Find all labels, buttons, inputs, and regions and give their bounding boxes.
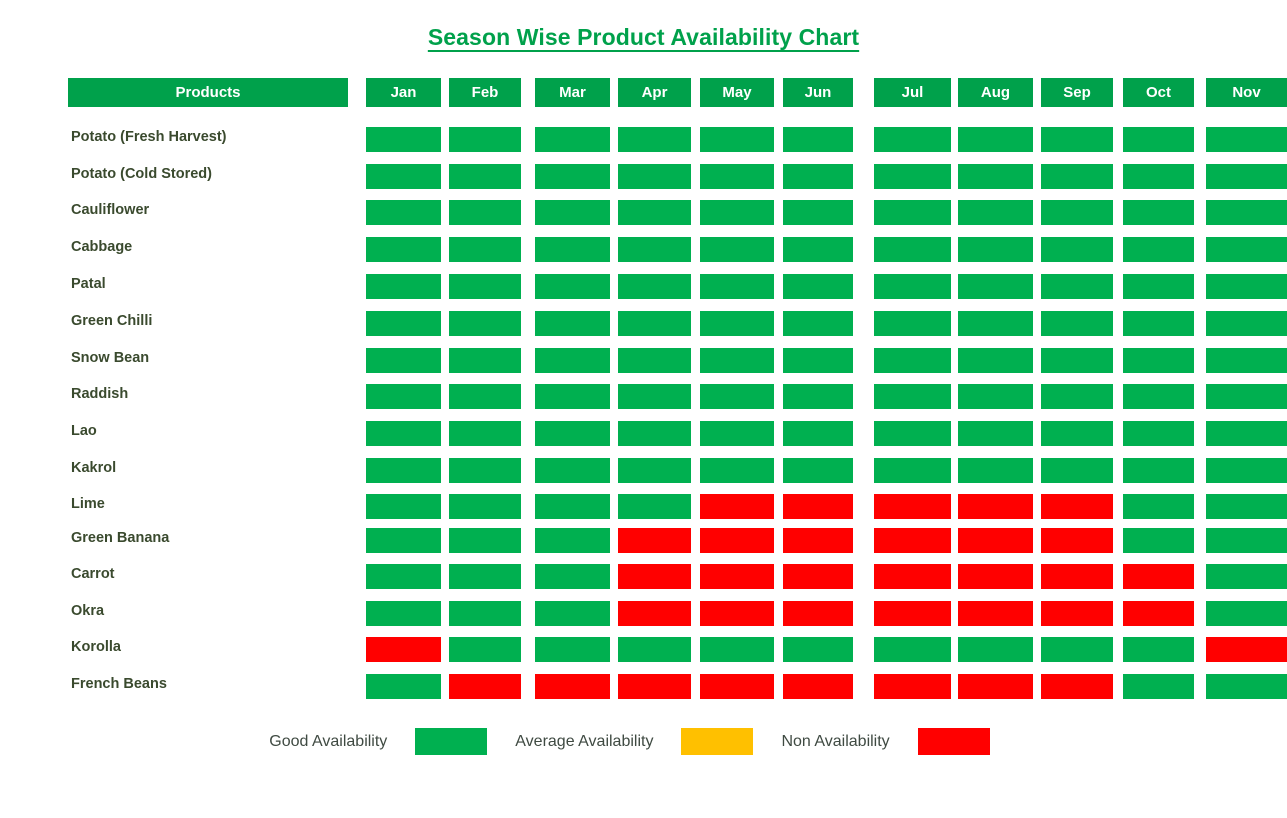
availability-cell[interactable] xyxy=(535,127,610,152)
availability-cell[interactable] xyxy=(700,274,774,299)
availability-cell[interactable] xyxy=(874,311,951,336)
legend-swatch-none xyxy=(918,728,990,755)
availability-cell[interactable] xyxy=(700,237,774,262)
availability-cell[interactable] xyxy=(783,384,853,409)
availability-cell[interactable] xyxy=(1206,637,1287,662)
availability-cell[interactable] xyxy=(618,384,691,409)
availability-cell[interactable] xyxy=(700,601,774,626)
availability-cell[interactable] xyxy=(618,237,691,262)
availability-cell[interactable] xyxy=(1206,564,1287,589)
availability-cell[interactable] xyxy=(700,564,774,589)
availability-cell[interactable] xyxy=(1041,458,1113,483)
availability-cell[interactable] xyxy=(1206,164,1287,189)
header-month-may[interactable]: May xyxy=(700,78,774,107)
availability-cell[interactable] xyxy=(874,164,951,189)
legend-item: Average Availability xyxy=(515,728,781,755)
availability-cell[interactable] xyxy=(618,127,691,152)
row-label: Cabbage xyxy=(71,236,361,258)
availability-cell[interactable] xyxy=(535,601,610,626)
availability-cell[interactable] xyxy=(618,200,691,225)
availability-cell[interactable] xyxy=(1123,494,1194,519)
availability-cell[interactable] xyxy=(1041,384,1113,409)
availability-cell[interactable] xyxy=(366,348,441,373)
availability-cell[interactable] xyxy=(783,528,853,553)
availability-cell[interactable] xyxy=(700,164,774,189)
availability-cell[interactable] xyxy=(618,637,691,662)
availability-cell[interactable] xyxy=(958,274,1033,299)
availability-cell[interactable] xyxy=(1123,528,1194,553)
availability-cell[interactable] xyxy=(1041,674,1113,699)
availability-cell[interactable] xyxy=(958,164,1033,189)
availability-cell[interactable] xyxy=(366,564,441,589)
availability-cell[interactable] xyxy=(958,127,1033,152)
availability-cell[interactable] xyxy=(366,384,441,409)
availability-cell[interactable] xyxy=(700,528,774,553)
availability-cell[interactable] xyxy=(366,127,441,152)
availability-cell[interactable] xyxy=(1206,237,1287,262)
availability-cell[interactable] xyxy=(1041,564,1113,589)
availability-cell[interactable] xyxy=(1206,127,1287,152)
header-month-nov[interactable]: Nov xyxy=(1206,78,1287,107)
availability-cell[interactable] xyxy=(783,637,853,662)
header-month-mar[interactable]: Mar xyxy=(535,78,610,107)
availability-cell[interactable] xyxy=(366,311,441,336)
availability-cell[interactable] xyxy=(1123,637,1194,662)
availability-cell[interactable] xyxy=(1206,200,1287,225)
availability-cell[interactable] xyxy=(449,164,521,189)
availability-cell[interactable] xyxy=(449,200,521,225)
availability-cell[interactable] xyxy=(874,200,951,225)
availability-cell[interactable] xyxy=(783,348,853,373)
header-month-jul[interactable]: Jul xyxy=(874,78,951,107)
availability-cell[interactable] xyxy=(1123,237,1194,262)
availability-cell[interactable] xyxy=(783,274,853,299)
availability-cell[interactable] xyxy=(366,274,441,299)
availability-cell[interactable] xyxy=(1041,348,1113,373)
availability-cell[interactable] xyxy=(783,674,853,699)
availability-cell[interactable] xyxy=(449,127,521,152)
availability-cell[interactable] xyxy=(366,494,441,519)
availability-cell[interactable] xyxy=(783,601,853,626)
availability-cell[interactable] xyxy=(1123,564,1194,589)
availability-cell[interactable] xyxy=(1123,164,1194,189)
row-label: Green Chilli xyxy=(71,310,361,332)
availability-cell[interactable] xyxy=(700,127,774,152)
availability-cell[interactable] xyxy=(958,674,1033,699)
availability-cell[interactable] xyxy=(366,637,441,662)
availability-cell[interactable] xyxy=(1041,637,1113,662)
header-month-apr[interactable]: Apr xyxy=(618,78,691,107)
availability-cell[interactable] xyxy=(958,237,1033,262)
availability-cell[interactable] xyxy=(535,421,610,446)
availability-cell[interactable] xyxy=(700,200,774,225)
availability-cell[interactable] xyxy=(1041,311,1113,336)
availability-cell[interactable] xyxy=(1041,274,1113,299)
availability-cell[interactable] xyxy=(449,601,521,626)
availability-cell[interactable] xyxy=(449,421,521,446)
availability-cell[interactable] xyxy=(874,237,951,262)
availability-cell[interactable] xyxy=(1123,674,1194,699)
availability-cell[interactable] xyxy=(874,127,951,152)
availability-cell[interactable] xyxy=(1206,311,1287,336)
availability-cell[interactable] xyxy=(874,274,951,299)
row-label: Patal xyxy=(71,273,361,295)
legend-label: Good Availability xyxy=(269,733,387,751)
availability-cell[interactable] xyxy=(783,458,853,483)
availability-cell[interactable] xyxy=(1206,458,1287,483)
availability-cell[interactable] xyxy=(1041,164,1113,189)
availability-cell[interactable] xyxy=(535,674,610,699)
availability-cell[interactable] xyxy=(958,311,1033,336)
availability-cell[interactable] xyxy=(958,384,1033,409)
availability-cell[interactable] xyxy=(449,494,521,519)
availability-cell[interactable] xyxy=(449,528,521,553)
availability-cell[interactable] xyxy=(1123,384,1194,409)
availability-cell[interactable] xyxy=(1123,200,1194,225)
legend-swatch-good xyxy=(415,728,487,755)
availability-cell[interactable] xyxy=(366,164,441,189)
availability-cell[interactable] xyxy=(958,528,1033,553)
availability-cell[interactable] xyxy=(535,237,610,262)
legend-item: Good Availability xyxy=(269,728,515,755)
availability-cell[interactable] xyxy=(535,528,610,553)
availability-cell[interactable] xyxy=(783,127,853,152)
availability-cell[interactable] xyxy=(874,601,951,626)
availability-cell[interactable] xyxy=(618,564,691,589)
legend-swatch-avg xyxy=(681,728,753,755)
availability-cell[interactable] xyxy=(700,384,774,409)
header-month-jun[interactable]: Jun xyxy=(783,78,853,107)
header-month-jan[interactable]: Jan xyxy=(366,78,441,107)
row-label: Cauliflower xyxy=(71,199,361,221)
row-label: Lao xyxy=(71,420,361,442)
availability-cell[interactable] xyxy=(1041,127,1113,152)
availability-cell[interactable] xyxy=(1041,200,1113,225)
availability-cell[interactable] xyxy=(958,458,1033,483)
availability-cell[interactable] xyxy=(618,348,691,373)
availability-cell[interactable] xyxy=(618,674,691,699)
availability-cell[interactable] xyxy=(1206,494,1287,519)
availability-cell[interactable] xyxy=(535,564,610,589)
availability-cell[interactable] xyxy=(874,384,951,409)
availability-cell[interactable] xyxy=(449,237,521,262)
row-label: Kakrol xyxy=(71,457,361,479)
row-label: Green Banana xyxy=(71,527,361,549)
availability-cell[interactable] xyxy=(783,494,853,519)
availability-cell[interactable] xyxy=(1206,421,1287,446)
availability-cell[interactable] xyxy=(958,421,1033,446)
availability-cell[interactable] xyxy=(958,348,1033,373)
row-label: Korolla xyxy=(71,636,361,658)
availability-cell[interactable] xyxy=(700,348,774,373)
availability-cell[interactable] xyxy=(366,200,441,225)
availability-cell[interactable] xyxy=(1123,601,1194,626)
availability-cell[interactable] xyxy=(449,274,521,299)
availability-cell[interactable] xyxy=(700,421,774,446)
row-label: Raddish xyxy=(71,383,361,405)
availability-cell[interactable] xyxy=(449,348,521,373)
availability-cell[interactable] xyxy=(1123,421,1194,446)
header-month-aug[interactable]: Aug xyxy=(958,78,1033,107)
availability-cell[interactable] xyxy=(1206,601,1287,626)
availability-cell[interactable] xyxy=(874,637,951,662)
availability-cell[interactable] xyxy=(700,674,774,699)
availability-cell[interactable] xyxy=(958,494,1033,519)
availability-cell[interactable] xyxy=(1206,274,1287,299)
availability-cell[interactable] xyxy=(366,458,441,483)
availability-cell[interactable] xyxy=(618,164,691,189)
availability-cell[interactable] xyxy=(1206,674,1287,699)
row-label: Snow Bean xyxy=(71,347,361,369)
availability-cell[interactable] xyxy=(535,384,610,409)
availability-cell[interactable] xyxy=(958,637,1033,662)
availability-cell[interactable] xyxy=(1041,601,1113,626)
availability-cell[interactable] xyxy=(535,637,610,662)
availability-cell[interactable] xyxy=(535,348,610,373)
availability-cell[interactable] xyxy=(874,494,951,519)
availability-cell[interactable] xyxy=(700,637,774,662)
availability-cell[interactable] xyxy=(783,164,853,189)
header-products: Products xyxy=(68,78,348,107)
availability-cell[interactable] xyxy=(1041,421,1113,446)
header-month-sep[interactable]: Sep xyxy=(1041,78,1113,107)
availability-cell[interactable] xyxy=(874,564,951,589)
row-label: French Beans xyxy=(71,673,361,695)
availability-cell[interactable] xyxy=(1041,237,1113,262)
availability-cell[interactable] xyxy=(535,494,610,519)
availability-cell[interactable] xyxy=(874,348,951,373)
availability-cell[interactable] xyxy=(1123,348,1194,373)
availability-cell[interactable] xyxy=(618,458,691,483)
availability-cell[interactable] xyxy=(1206,384,1287,409)
availability-cell[interactable] xyxy=(1041,528,1113,553)
availability-grid: Products JanFebMarAprMayJunJulAugSepOctN… xyxy=(0,0,1287,818)
availability-cell[interactable] xyxy=(958,564,1033,589)
availability-cell[interactable] xyxy=(783,237,853,262)
availability-cell[interactable] xyxy=(535,311,610,336)
availability-cell[interactable] xyxy=(535,200,610,225)
availability-cell[interactable] xyxy=(449,458,521,483)
availability-cell[interactable] xyxy=(535,458,610,483)
availability-cell[interactable] xyxy=(366,528,441,553)
availability-cell[interactable] xyxy=(366,674,441,699)
availability-cell[interactable] xyxy=(449,564,521,589)
availability-cell[interactable] xyxy=(449,384,521,409)
availability-cell[interactable] xyxy=(366,421,441,446)
availability-cell[interactable] xyxy=(783,311,853,336)
legend-item: Non Availability xyxy=(781,728,1017,755)
availability-cell[interactable] xyxy=(700,458,774,483)
availability-cell[interactable] xyxy=(874,458,951,483)
availability-cell[interactable] xyxy=(958,200,1033,225)
availability-cell[interactable] xyxy=(618,421,691,446)
availability-cell[interactable] xyxy=(783,564,853,589)
legend-label: Average Availability xyxy=(515,733,653,751)
availability-cell[interactable] xyxy=(366,237,441,262)
availability-cell[interactable] xyxy=(449,637,521,662)
row-label: Carrot xyxy=(71,563,361,585)
availability-cell[interactable] xyxy=(700,311,774,336)
header-month-feb[interactable]: Feb xyxy=(449,78,521,107)
availability-cell[interactable] xyxy=(618,274,691,299)
availability-cell[interactable] xyxy=(783,421,853,446)
legend-label: Non Availability xyxy=(781,733,889,751)
availability-cell[interactable] xyxy=(874,674,951,699)
availability-cell[interactable] xyxy=(1206,348,1287,373)
availability-cell[interactable] xyxy=(1123,127,1194,152)
availability-cell[interactable] xyxy=(1123,311,1194,336)
availability-cell[interactable] xyxy=(958,601,1033,626)
availability-cell[interactable] xyxy=(783,200,853,225)
availability-cell[interactable] xyxy=(535,274,610,299)
header-month-oct[interactable]: Oct xyxy=(1123,78,1194,107)
availability-cell[interactable] xyxy=(1041,494,1113,519)
availability-cell[interactable] xyxy=(535,164,610,189)
availability-cell[interactable] xyxy=(874,528,951,553)
availability-cell[interactable] xyxy=(618,311,691,336)
row-label: Potato (Fresh Harvest) xyxy=(71,126,361,148)
availability-cell[interactable] xyxy=(1123,458,1194,483)
availability-cell[interactable] xyxy=(618,494,691,519)
row-label: Okra xyxy=(71,600,361,622)
legend: Good AvailabilityAverage AvailabilityNon… xyxy=(0,728,1287,755)
availability-cell[interactable] xyxy=(618,528,691,553)
availability-cell[interactable] xyxy=(1206,528,1287,553)
availability-cell[interactable] xyxy=(1123,274,1194,299)
row-label: Lime xyxy=(71,493,361,515)
availability-cell[interactable] xyxy=(449,311,521,336)
availability-cell[interactable] xyxy=(366,601,441,626)
row-label: Potato (Cold Stored) xyxy=(71,163,361,185)
availability-cell[interactable] xyxy=(700,494,774,519)
availability-cell[interactable] xyxy=(874,421,951,446)
availability-cell[interactable] xyxy=(618,601,691,626)
availability-cell[interactable] xyxy=(449,674,521,699)
